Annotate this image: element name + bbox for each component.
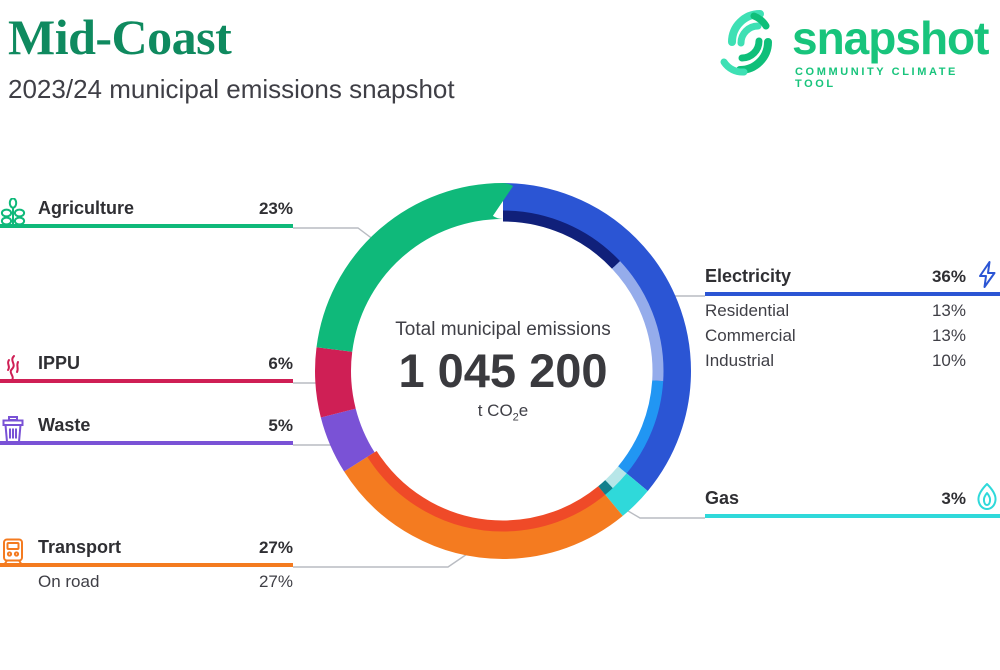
legend-label: Electricity [705, 266, 791, 287]
legend-label: IPPU [38, 353, 80, 374]
legend-percent: 3% [941, 489, 966, 509]
legend-rule [0, 563, 293, 567]
legend-subitem-commercial: Commercial 13% [705, 326, 1000, 346]
sub-label: Residential [705, 301, 789, 321]
sub-label: Industrial [705, 351, 774, 371]
page-header: Mid-Coast 2023/24 municipal emissions sn… [0, 0, 1000, 120]
sub-label: On road [38, 572, 99, 592]
logo-tagline: COMMUNITY CLIMATE TOOL [795, 66, 1000, 90]
legend-row: Gas 3% [705, 488, 1000, 509]
logo-wordmark: snapshot [792, 12, 988, 64]
legend-item-gas[interactable]: Gas 3% [705, 488, 1000, 518]
legend-percent: 27% [259, 538, 293, 558]
legend-label: Agriculture [38, 198, 134, 219]
legend-subitem-on-road: On road 27% [38, 572, 293, 592]
legend-rule [0, 379, 293, 383]
spiral-swirl-icon [714, 6, 786, 78]
legend-subitem-industrial: Industrial 10% [705, 351, 1000, 371]
sub-percent: 13% [932, 326, 966, 346]
legend-row: Agriculture 23% [0, 198, 293, 219]
sub-percent: 10% [932, 351, 966, 371]
emissions-snapshot-page: Mid-Coast 2023/24 municipal emissions sn… [0, 0, 1000, 670]
emissions-donut-chart [315, 183, 691, 559]
legend-percent: 36% [932, 267, 966, 287]
legend-item-electricity[interactable]: Electricity 36% Residential 13% Commerci… [705, 266, 1000, 371]
legend-percent: 23% [259, 199, 293, 219]
legend-rule [0, 224, 293, 228]
legend-rule [705, 514, 1000, 518]
legend-label: Waste [38, 415, 90, 436]
legend-subitem-residential: Residential 13% [705, 301, 1000, 321]
legend-row: Transport 27% [0, 537, 293, 558]
snapshot-logo: snapshot COMMUNITY CLIMATE TOOL [700, 4, 1000, 96]
legend-item-agriculture[interactable]: Agriculture 23% [0, 198, 293, 228]
legend-item-ippu[interactable]: IPPU 6% [0, 353, 293, 383]
legend-rule [705, 292, 1000, 296]
legend-row: Electricity 36% [705, 266, 1000, 287]
page-title: Mid-Coast [8, 8, 231, 66]
sub-percent: 27% [259, 572, 293, 592]
legend-label: Gas [705, 488, 739, 509]
sub-percent: 13% [932, 301, 966, 321]
sub-label: Commercial [705, 326, 796, 346]
legend-item-transport[interactable]: Transport 27% On road 27% [0, 537, 293, 592]
legend-rule [0, 441, 293, 445]
legend-row: Waste 5% [0, 415, 293, 436]
legend-percent: 6% [268, 354, 293, 374]
legend-item-waste[interactable]: Waste 5% [0, 415, 293, 445]
legend-row: IPPU 6% [0, 353, 293, 374]
page-subtitle: 2023/24 municipal emissions snapshot [8, 72, 455, 106]
legend-label: Transport [38, 537, 121, 558]
legend-percent: 5% [268, 416, 293, 436]
